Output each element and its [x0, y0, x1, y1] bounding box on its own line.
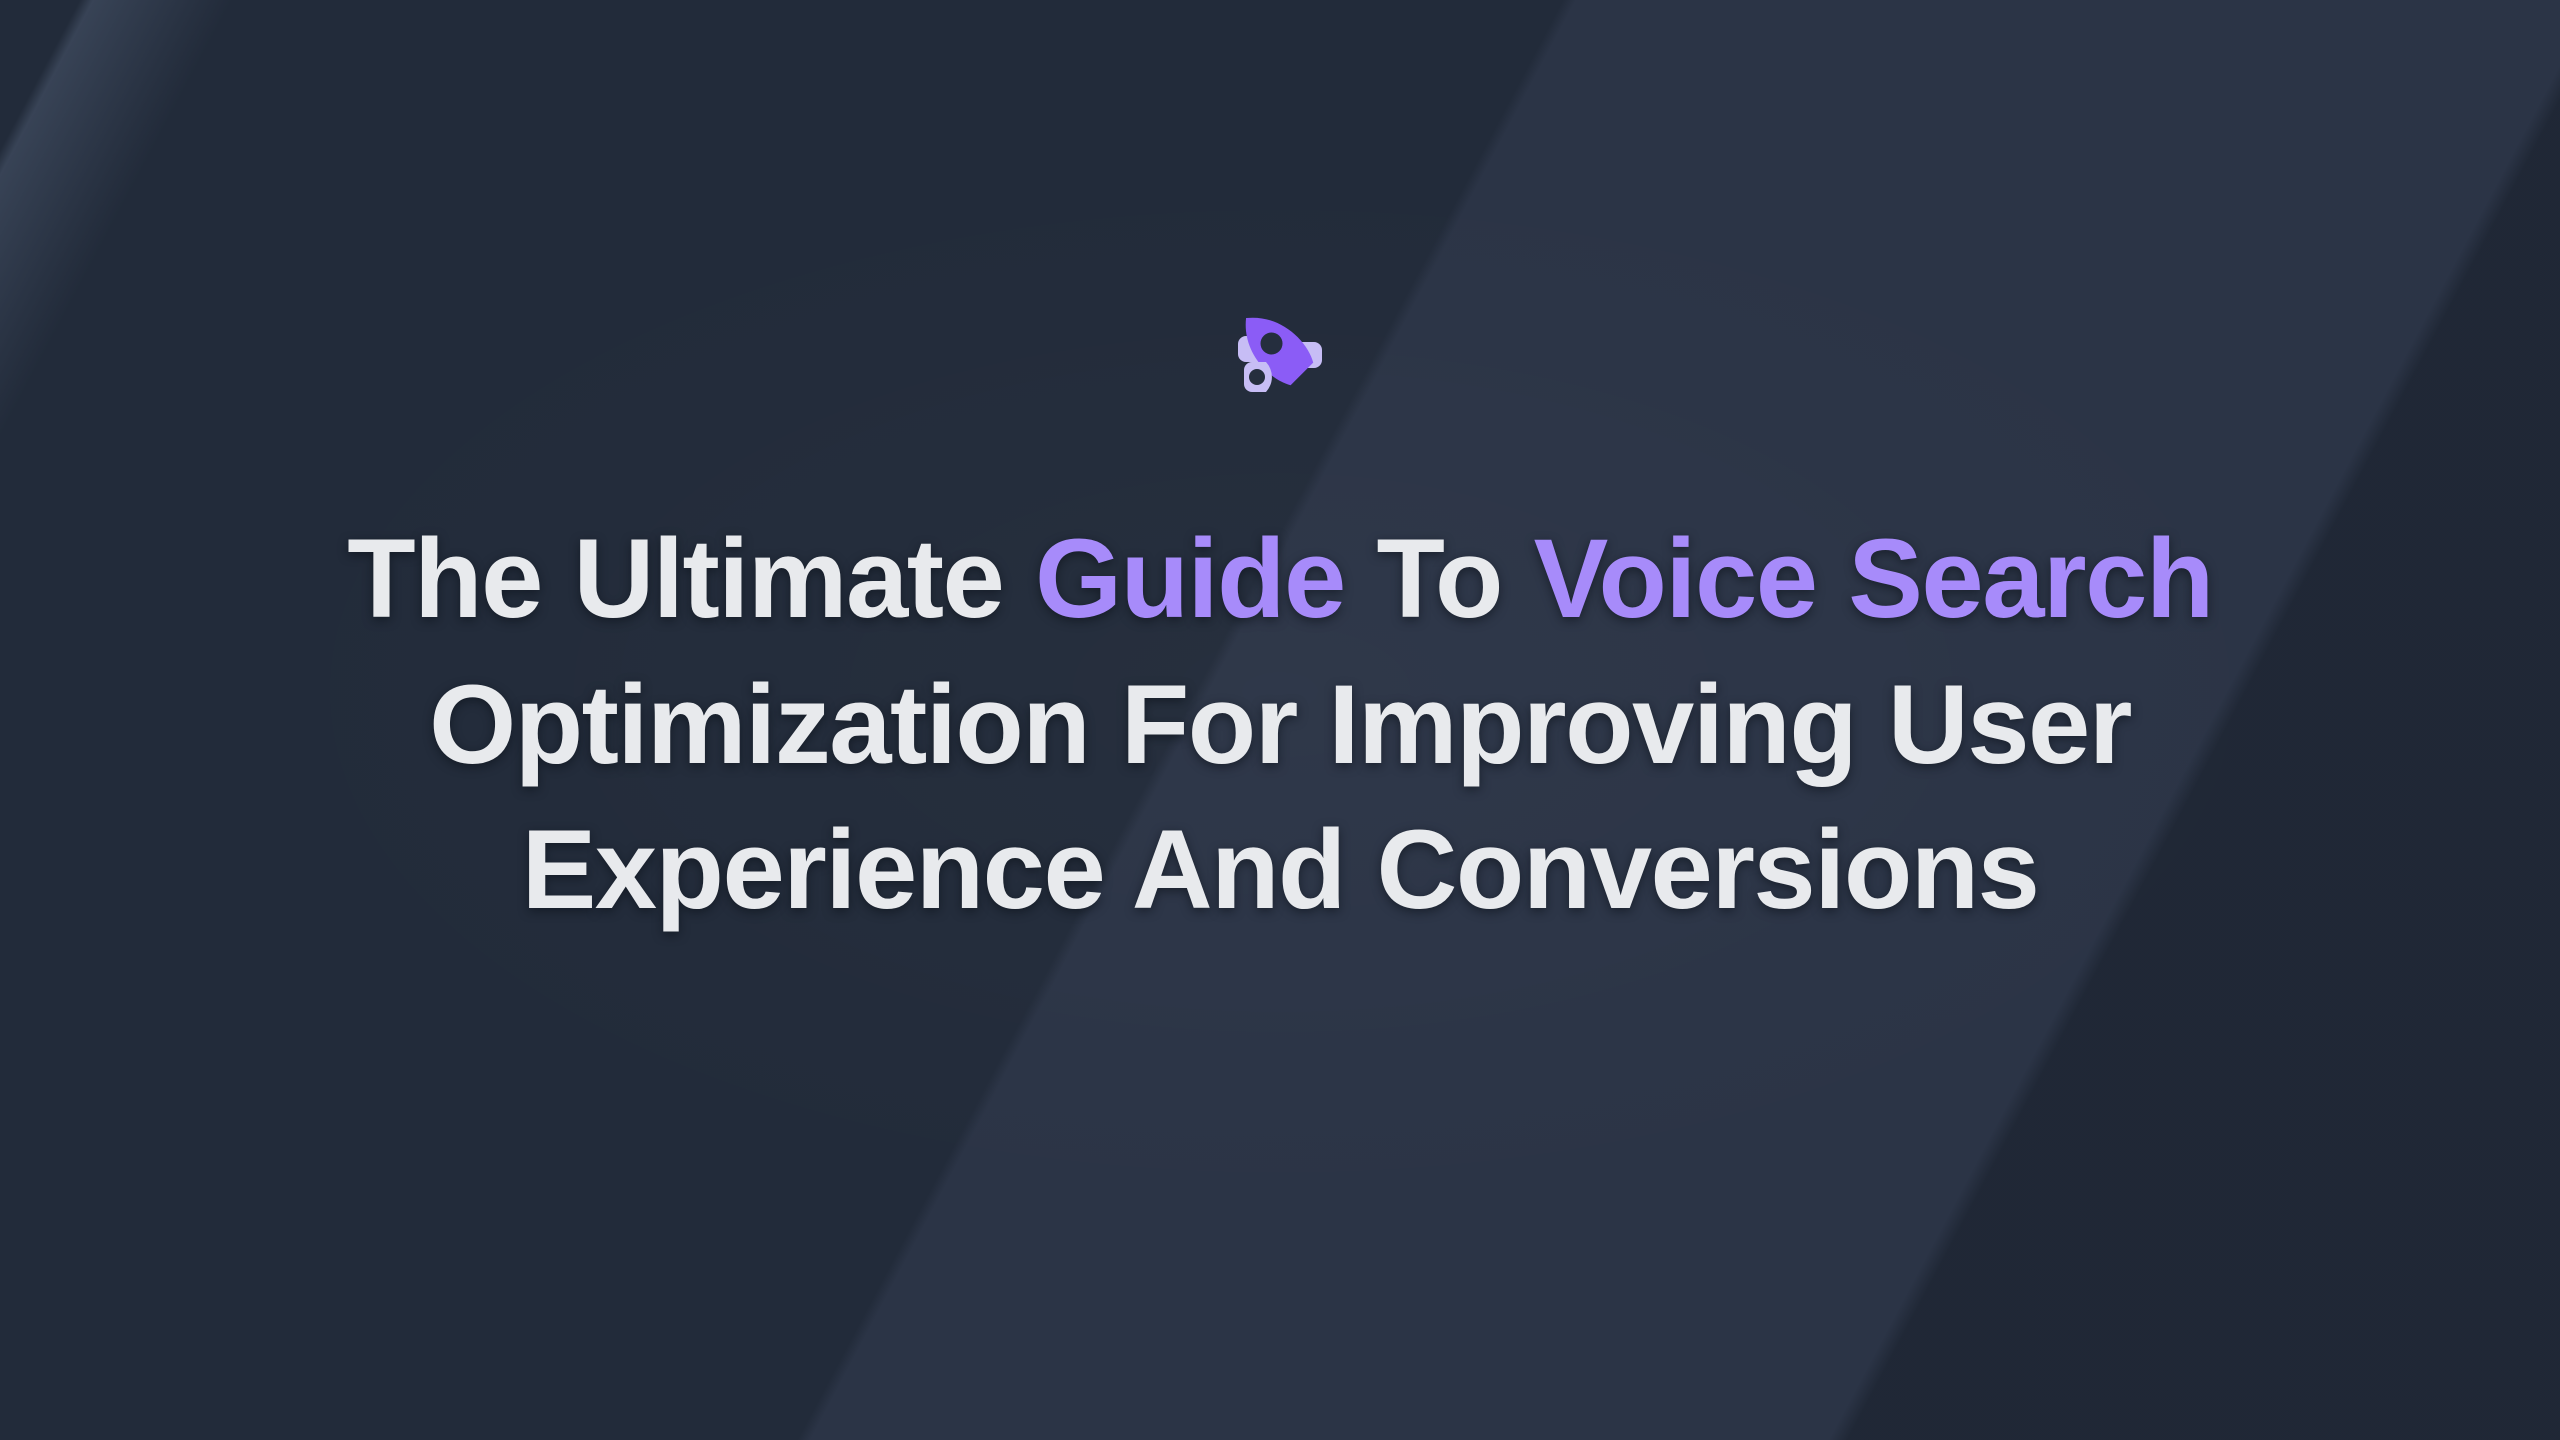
- page-title: The Ultimate Guide To Voice Search Optim…: [80, 506, 2480, 943]
- logo: [1220, 292, 1340, 412]
- headline-accent-voice-search: Voice Search: [1534, 516, 2213, 641]
- rocket-exhaust-port: [1249, 369, 1265, 385]
- headline-line-1: The Ultimate Guide To Voice Search: [80, 506, 2480, 652]
- headline-text-2: To: [1345, 516, 1534, 641]
- headline-line-2: Optimization For Improving User: [80, 652, 2480, 798]
- rocket-exhaust: [1244, 362, 1272, 392]
- headline-accent-guide: Guide: [1035, 516, 1345, 641]
- rocket-icon: [1224, 296, 1336, 408]
- hero-content: The Ultimate Guide To Voice Search Optim…: [0, 0, 2560, 943]
- hero-banner: The Ultimate Guide To Voice Search Optim…: [0, 0, 2560, 1440]
- headline-line-3: Experience And Conversions: [80, 797, 2480, 943]
- headline-text-1: The Ultimate: [347, 516, 1035, 641]
